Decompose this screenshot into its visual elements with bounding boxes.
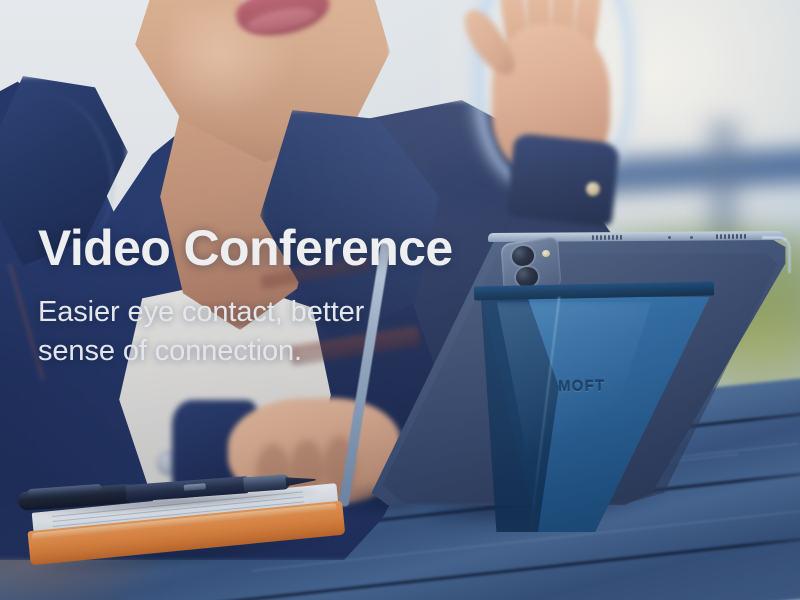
microphone-hole (690, 236, 693, 239)
cuff-button (586, 182, 600, 196)
subheadline: Easier eye contact, better sense of conn… (38, 293, 508, 371)
pen-nib (285, 475, 316, 486)
text-overlay: Video Conference Easier eye contact, bet… (38, 222, 508, 371)
pen-grip (243, 474, 290, 492)
subheadline-line-1: Easier eye contact, better (38, 296, 364, 328)
waving-hand (468, 0, 648, 200)
headline: Video Conference (38, 222, 508, 275)
moft-brand-logo: MOFT (558, 378, 606, 396)
microphone-hole (668, 236, 671, 239)
tablet-corner-highlight (762, 236, 791, 273)
subheadline-line-2: sense of connection. (38, 332, 508, 371)
speaker-grille (716, 234, 746, 239)
hero-image: MOFT Video Conference Easier eye contact… (0, 0, 800, 600)
speaker-grille (592, 235, 622, 240)
camera-flash-icon (542, 250, 550, 257)
